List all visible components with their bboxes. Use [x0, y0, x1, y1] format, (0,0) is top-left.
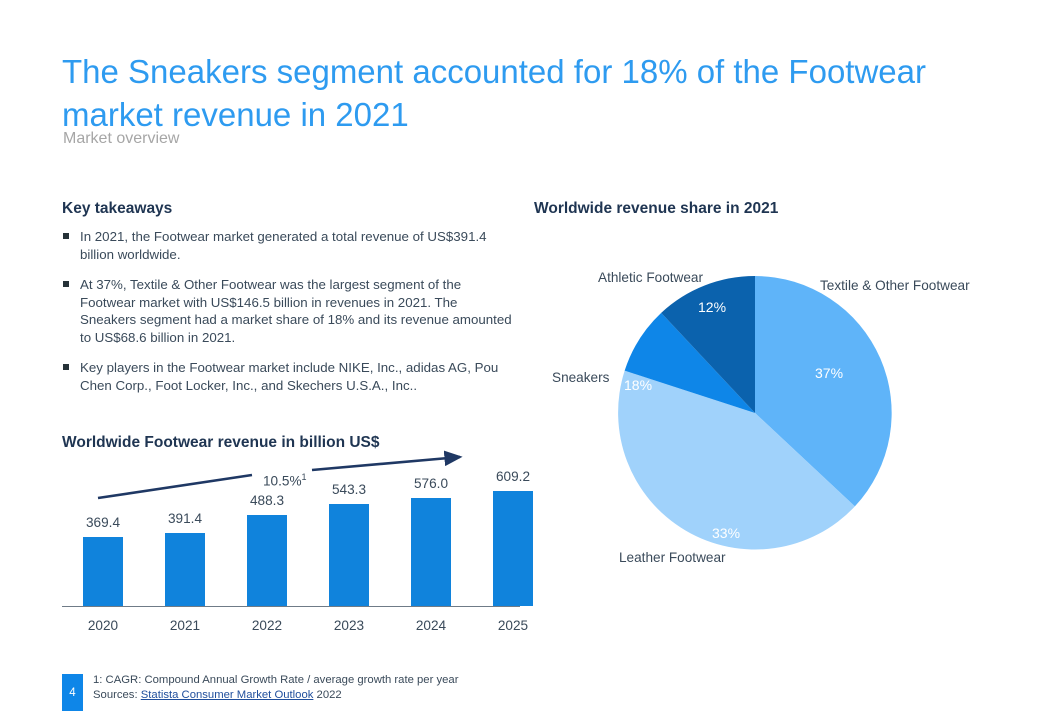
- pie-category-label-textile: Textile & Other Footwear: [820, 278, 970, 293]
- bar-column[interactable]: 543.3 2023: [308, 455, 390, 635]
- bullet-square-icon: [63, 281, 69, 287]
- pie-chart-title: Worldwide revenue share in 2021: [534, 200, 778, 218]
- pie-chart: 37% 33% 18% 12% Textile & Other Footwear…: [534, 240, 1034, 570]
- list-item-text: Key players in the Footwear market inclu…: [80, 360, 498, 393]
- pie-value-label-leather: 33%: [712, 525, 740, 541]
- bar-value-label: 369.4: [62, 515, 144, 530]
- sources-suffix: 2022: [313, 689, 341, 701]
- footnote-text: 1: CAGR: Compound Annual Growth Rate / a…: [93, 673, 458, 688]
- key-takeaways-heading: Key takeaways: [62, 200, 172, 218]
- pie-category-label-sneakers: Sneakers: [552, 370, 609, 385]
- bar-rect[interactable]: [329, 504, 369, 606]
- bar-rect[interactable]: [411, 498, 451, 606]
- list-item-text: In 2021, the Footwear market generated a…: [80, 229, 487, 262]
- bar-chart: 369.4 2020 391.4 2021 488.3 2022 543.3 2…: [62, 455, 522, 635]
- bar-rect[interactable]: [493, 491, 533, 606]
- slide-canvas: The Sneakers segment accounted for 18% o…: [0, 0, 1039, 719]
- sources-prefix: Sources:: [93, 689, 141, 701]
- bar-value-label: 488.3: [226, 493, 308, 508]
- list-item: In 2021, the Footwear market generated a…: [62, 228, 514, 263]
- pie-value-label-athletic: 12%: [698, 299, 726, 315]
- bar-rect[interactable]: [247, 515, 287, 606]
- bar-value-label: 391.4: [144, 511, 226, 526]
- key-takeaways-list: In 2021, the Footwear market generated a…: [62, 228, 514, 407]
- sources-line: Sources: Statista Consumer Market Outloo…: [93, 688, 342, 703]
- bar-value-label: 576.0: [390, 476, 472, 491]
- list-item-text: At 37%, Textile & Other Footwear was the…: [80, 277, 512, 345]
- bar-value-label: 543.3: [308, 482, 390, 497]
- page-number-badge: 4: [62, 674, 83, 711]
- bar-column[interactable]: 391.4 2021: [144, 455, 226, 635]
- bar-category-label: 2024: [390, 618, 472, 633]
- sources-link[interactable]: Statista Consumer Market Outlook: [141, 689, 314, 701]
- bar-category-label: 2021: [144, 618, 226, 633]
- bar-rect[interactable]: [83, 537, 123, 606]
- bar-column[interactable]: 369.4 2020: [62, 455, 144, 635]
- bullet-square-icon: [63, 364, 69, 370]
- pie-value-label-sneakers: 18%: [624, 377, 652, 393]
- bar-category-label: 2025: [472, 618, 554, 633]
- bar-category-label: 2023: [308, 618, 390, 633]
- page-subtitle: Market overview: [63, 130, 179, 148]
- bar-rect[interactable]: [165, 533, 205, 606]
- bar-column[interactable]: 576.0 2024: [390, 455, 472, 635]
- bar-category-label: 2020: [62, 618, 144, 633]
- list-item: At 37%, Textile & Other Footwear was the…: [62, 276, 514, 346]
- bar-category-label: 2022: [226, 618, 308, 633]
- bar-column[interactable]: 488.3 2022: [226, 455, 308, 635]
- list-item: Key players in the Footwear market inclu…: [62, 359, 514, 394]
- page-title: The Sneakers segment accounted for 18% o…: [62, 50, 942, 136]
- pie-category-label-leather: Leather Footwear: [619, 550, 726, 565]
- bar-chart-title: Worldwide Footwear revenue in billion US…: [62, 434, 380, 452]
- pie-category-label-athletic: Athletic Footwear: [598, 270, 703, 285]
- bullet-square-icon: [63, 233, 69, 239]
- pie-value-label-textile: 37%: [815, 365, 843, 381]
